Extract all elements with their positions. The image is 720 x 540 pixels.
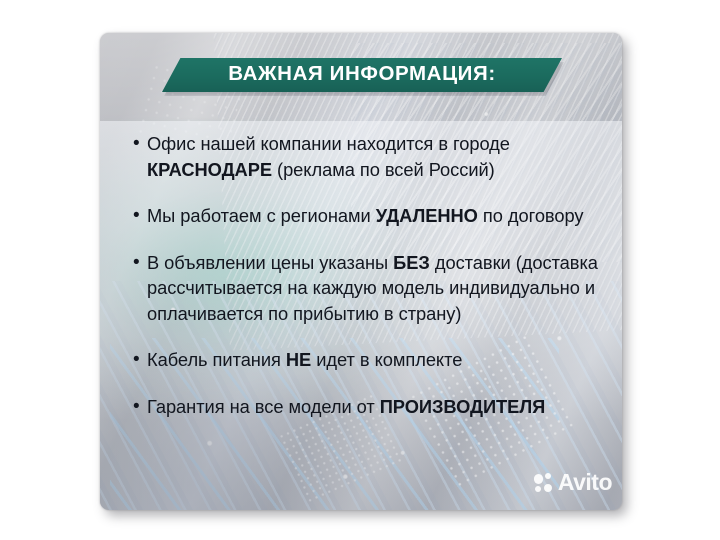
avito-watermark: Avito <box>534 471 612 494</box>
avito-wordmark: Avito <box>558 471 612 494</box>
emphasis-text: НЕ <box>286 349 311 370</box>
emphasis-text: ПРОИЗВОДИТЕЛЯ <box>380 396 545 417</box>
body-text: Гарантия на все модели от <box>147 396 380 417</box>
list-item-text: В объявлении цены указаны БЕЗ доставки (… <box>147 250 604 327</box>
avito-dots-icon <box>534 473 554 493</box>
header-ribbon: ВАЖНАЯ ИНФОРМАЦИЯ: <box>162 58 562 92</box>
list-item: •Гарантия на все модели от ПРОИЗВОДИТЕЛЯ <box>130 394 604 420</box>
list-item: •Мы работаем с регионами УДАЛЕННО по дог… <box>130 203 604 229</box>
body-text: Офис нашей компании находится в городе <box>147 133 510 154</box>
body-text: (реклама по всей Россий) <box>272 159 495 180</box>
emphasis-text: БЕЗ <box>393 252 430 273</box>
body-text: Мы работаем с регионами <box>147 205 376 226</box>
header-ribbon-body: ВАЖНАЯ ИНФОРМАЦИЯ: <box>162 58 562 92</box>
body-text: Кабель питания <box>147 349 286 370</box>
emphasis-text: УДАЛЕННО <box>376 205 478 226</box>
list-item: •Кабель питания НЕ идет в комплекте <box>130 347 604 373</box>
list-item-text: Кабель питания НЕ идет в комплекте <box>147 347 604 373</box>
list-item-text: Гарантия на все модели от ПРОИЗВОДИТЕЛЯ <box>147 394 604 420</box>
list-item-text: Мы работаем с регионами УДАЛЕННО по дого… <box>147 203 604 229</box>
emphasis-text: КРАСНОДАРЕ <box>147 159 272 180</box>
list-item: •Офис нашей компании находится в городе … <box>130 131 604 182</box>
information-card: ВАЖНАЯ ИНФОРМАЦИЯ: •Офис нашей компании … <box>100 33 622 510</box>
bullet-marker-icon: • <box>130 394 147 419</box>
list-item: •В объявлении цены указаны БЕЗ доставки … <box>130 250 604 327</box>
page-title: ВАЖНАЯ ИНФОРМАЦИЯ: <box>228 64 496 86</box>
information-bullet-list: •Офис нашей компании находится в городе … <box>130 131 604 440</box>
body-text: по договору <box>478 205 584 226</box>
list-item-text: Офис нашей компании находится в городе К… <box>147 131 604 182</box>
bullet-marker-icon: • <box>130 250 147 275</box>
body-text: идет в комплекте <box>311 349 462 370</box>
bullet-marker-icon: • <box>130 347 147 372</box>
screenshot-canvas: ВАЖНАЯ ИНФОРМАЦИЯ: •Офис нашей компании … <box>0 0 720 540</box>
body-text: В объявлении цены указаны <box>147 252 393 273</box>
bullet-marker-icon: • <box>130 131 147 156</box>
bullet-marker-icon: • <box>130 203 147 228</box>
